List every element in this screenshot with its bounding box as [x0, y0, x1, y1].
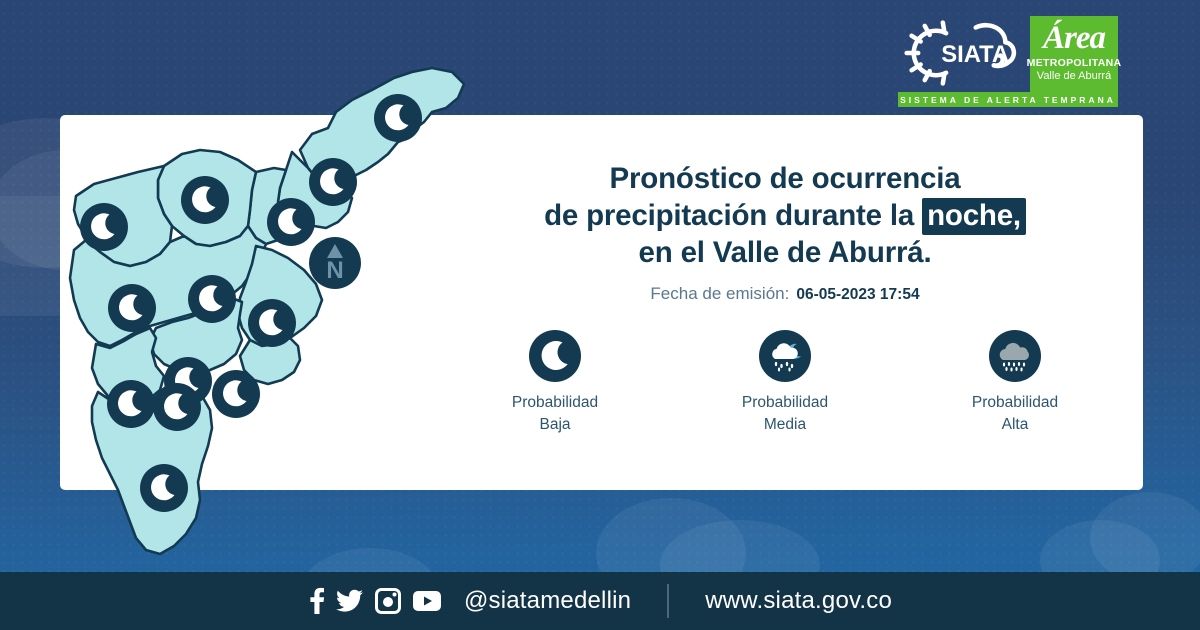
area-logo-script: Área: [1043, 22, 1105, 55]
legend-label-baja-line1: Probabilidad: [512, 394, 598, 411]
emission-label: Fecha de emisión:: [650, 284, 789, 304]
map-svg: N: [60, 50, 480, 580]
legend-label-alta-line2: Alta: [1002, 416, 1029, 433]
map-marker-la-estrella[interactable]: [107, 380, 155, 428]
map-marker-itagui[interactable]: [188, 275, 236, 323]
title-line-2-text: de precipitación durante la: [544, 199, 914, 232]
twitter-icon[interactable]: [336, 589, 364, 613]
valle-de-aburra-map: N: [60, 50, 480, 580]
website-url[interactable]: www.siata.gov.co: [705, 587, 892, 615]
footer-divider: [667, 584, 669, 618]
map-marker-bello[interactable]: [181, 176, 229, 224]
emission-value: 06-05-2023 17:54: [796, 286, 919, 304]
legend-label-media-line1: Probabilidad: [742, 394, 828, 411]
svg-text:SIATA: SIATA: [941, 41, 1009, 68]
map-marker-caldas-norte[interactable]: [153, 383, 201, 431]
headline-block: Pronóstico de ocurrencia de precipitació…: [470, 160, 1100, 304]
area-logo-line2: Valle de Aburrá: [1037, 70, 1111, 83]
title-highlight-noche: noche,: [922, 198, 1026, 235]
title-line-2: de precipitación durante la noche,: [470, 197, 1100, 234]
map-marker-caldas[interactable]: [140, 464, 188, 512]
footer-bar: @siatamedellin www.siata.gov.co: [0, 572, 1200, 630]
legend-label-media-line2: Media: [764, 416, 806, 433]
moon-icon: [529, 330, 581, 382]
cloud-heavy-rain-icon: [989, 330, 1041, 382]
legend-item-baja[interactable]: Probabilidad Baja: [480, 330, 630, 435]
social-handle[interactable]: @siatamedellin: [464, 587, 631, 615]
legend-label-media: Probabilidad Media: [742, 392, 828, 435]
legend-item-media[interactable]: Probabilidad Media: [710, 330, 860, 435]
svg-text:N: N: [326, 257, 343, 284]
map-marker-copacabana[interactable]: [267, 198, 315, 246]
area-logo-line1: METROPOLITANA: [1027, 58, 1122, 70]
tagline-bar: SISTEMA DE ALERTA TEMPRANA: [898, 92, 1118, 107]
social-icons: [308, 587, 442, 615]
title-line-3: en el Valle de Aburrá.: [470, 234, 1100, 271]
legend-label-baja: Probabilidad Baja: [512, 392, 598, 435]
map-marker-medellin[interactable]: [108, 284, 156, 332]
emission-date: Fecha de emisión: 06-05-2023 17:54: [470, 284, 1100, 304]
brand-logos: SIATA Área METROPOLITANA Valle de Aburrá: [890, 16, 1118, 102]
map-marker-barbosa[interactable]: [374, 94, 422, 142]
area-metropolitana-logo: Área METROPOLITANA Valle de Aburrá: [1030, 16, 1118, 102]
cloud-rain-moon-icon: [759, 330, 811, 382]
siata-logo-icon: SIATA: [890, 16, 1022, 90]
infographic-canvas: SIATA Área METROPOLITANA Valle de Aburrá…: [0, 0, 1200, 630]
legend-item-alta[interactable]: Probabilidad Alta: [940, 330, 1090, 435]
title-line-1: Pronóstico de ocurrencia: [470, 160, 1100, 197]
youtube-icon[interactable]: [412, 590, 442, 612]
legend-label-baja-line2: Baja: [539, 416, 570, 433]
map-marker-envigado[interactable]: [248, 299, 296, 347]
map-marker-rionegro[interactable]: [212, 370, 260, 418]
page-title: Pronóstico de ocurrencia de precipitació…: [470, 160, 1100, 271]
tagline-text: SISTEMA DE ALERTA TEMPRANA: [900, 95, 1116, 105]
legend-label-alta: Probabilidad Alta: [972, 392, 1058, 435]
facebook-icon[interactable]: [308, 587, 325, 615]
probability-legend: Probabilidad Baja Probabilidad: [470, 330, 1100, 435]
map-marker-girardota[interactable]: [309, 158, 357, 206]
instagram-icon[interactable]: [375, 588, 401, 614]
compass-north-icon: N: [309, 237, 361, 289]
legend-label-alta-line1: Probabilidad: [972, 394, 1058, 411]
map-marker-san-jeronimo[interactable]: [80, 203, 128, 251]
